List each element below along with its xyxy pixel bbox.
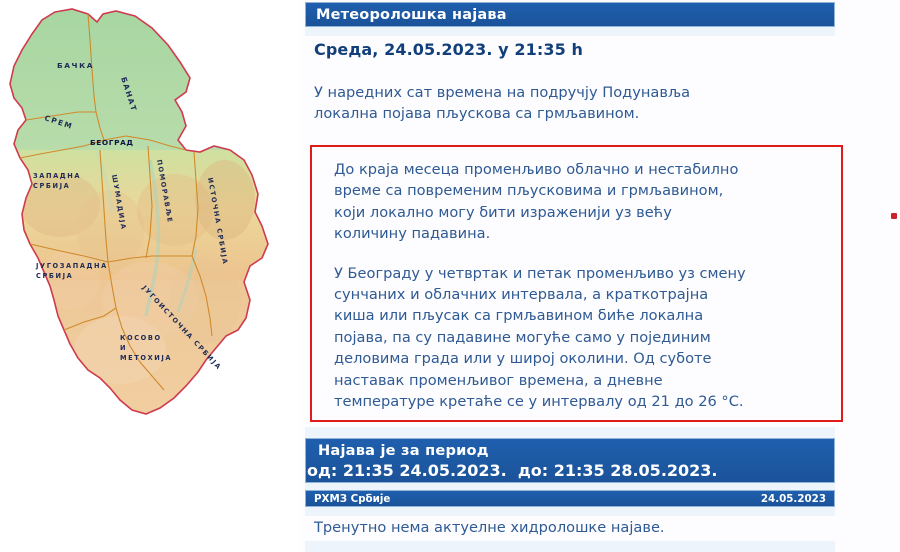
source-bar: РХМЗ Србије 24.05.2023 bbox=[305, 490, 835, 507]
capital-belgrade: БЕОГРАД bbox=[90, 138, 134, 147]
highlight-p2-line-2: сунчаних и облачних интервала, а краткот… bbox=[334, 284, 834, 305]
page-title: Метеоролошка најава bbox=[316, 7, 507, 23]
lead-line-1: У наредних сат времена на подручју Подун… bbox=[314, 82, 844, 103]
highlight-p1-line-4: количину падавина. bbox=[334, 223, 834, 244]
highlight-warning-box: До краја месеца променљиво облачно и нес… bbox=[310, 145, 843, 422]
highlight-p2-line-6: наставак променљивог времена, а дневне bbox=[334, 370, 834, 391]
highlight-p2-line-3: киша или пљусак са грмљавином биће локал… bbox=[334, 305, 834, 326]
highlight-p2-line-4: појава, па су падавине могуће само у пој… bbox=[334, 327, 834, 348]
red-marker-dot bbox=[891, 213, 897, 219]
validity-period-bar: Најава је за период од: 21:35 24.05.2023… bbox=[305, 438, 835, 483]
divider-strip-mid bbox=[305, 427, 835, 438]
highlight-paragraph-2: У Београду у четвртак и петак променљиво… bbox=[334, 263, 834, 413]
highlight-p1-line-3: који локално могу бити израженији уз већ… bbox=[334, 202, 834, 223]
highlight-p2-line-1: У Београду у четвртак и петак променљиво… bbox=[334, 263, 834, 284]
bulletin-title-bar: Метеоролошка најава bbox=[305, 2, 835, 27]
lead-line-2: локална појава пљускова са грмљавином. bbox=[314, 103, 844, 124]
hydrology-note: Тренутно нема актуелне хидролошке најаве… bbox=[314, 519, 665, 536]
highlight-p2-line-5: деловима града или у широј околини. Од с… bbox=[334, 348, 834, 369]
highlight-warning-text: До краја месеца променљиво облачно и нес… bbox=[334, 159, 834, 412]
divider-strip-below-period bbox=[305, 483, 835, 490]
divider-strip-top bbox=[305, 27, 835, 36]
validity-period-label: Најава је за период bbox=[318, 442, 489, 459]
validity-period-range: од: 21:35 24.05.2023. до: 21:35 28.05.20… bbox=[307, 461, 718, 480]
divider-strip-bottom bbox=[305, 541, 835, 552]
map-label-backa: БАЧКА bbox=[57, 61, 94, 70]
highlight-paragraph-1: До краја месеца променљиво облачно и нес… bbox=[334, 159, 834, 245]
source-name: РХМЗ Србије bbox=[314, 493, 390, 505]
serbia-region-map: БАЧКАБАНАТСРЕМЗАПАДНАСРБИЈАШУМАДИЈАПОМОР… bbox=[0, 0, 300, 552]
bulletin-date-heading: Среда, 24.05.2023. у 21:35 h bbox=[314, 40, 583, 59]
bulletin-panel: Метеоролошка најава Среда, 24.05.2023. у… bbox=[300, 0, 900, 552]
meteo-bulletin-screen: БАЧКАБАНАТСРЕМЗАПАДНАСРБИЈАШУМАДИЈАПОМОР… bbox=[0, 0, 900, 552]
source-date: 24.05.2023 bbox=[761, 493, 826, 505]
highlight-p1-line-2: време са повременим пљусковима и грмљави… bbox=[334, 180, 834, 201]
svg-text:БЕОГРАД: БЕОГРАД bbox=[90, 138, 134, 147]
highlight-p2-line-7: температуре кретаће се у интервалу од 21… bbox=[334, 391, 834, 412]
divider-strip-below-source bbox=[305, 507, 835, 516]
bulletin-lead-text: У наредних сат времена на подручју Подун… bbox=[314, 82, 844, 124]
highlight-p1-line-1: До краја месеца променљиво облачно и нес… bbox=[334, 159, 834, 180]
